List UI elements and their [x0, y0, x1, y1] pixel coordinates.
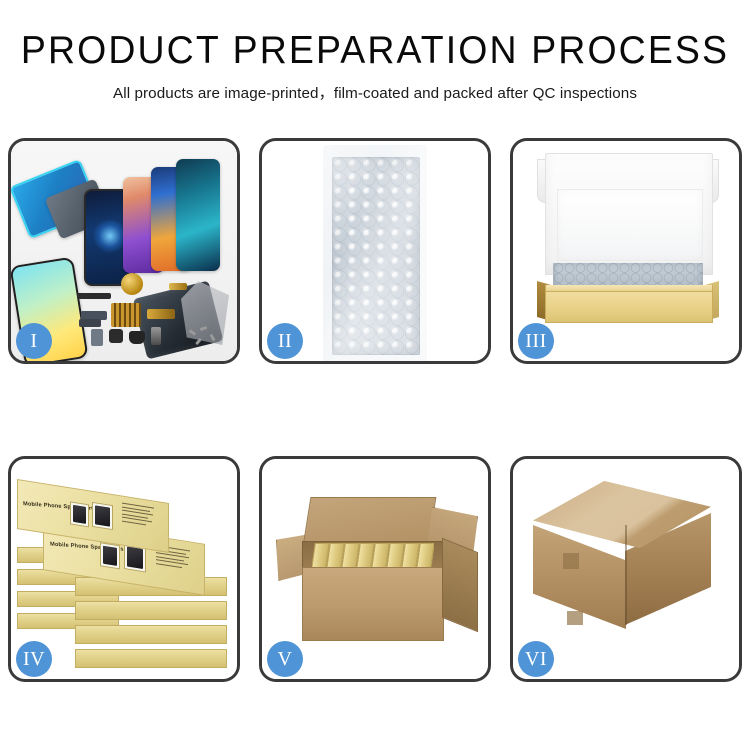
page-title: PRODUCT PREPARATION PROCESS: [15, 30, 735, 72]
step-badge-6: VI: [518, 641, 554, 677]
page-subtitle: All products are image-printed，film-coat…: [0, 81, 750, 103]
step-panel-5: V: [259, 456, 491, 682]
sealed-shipping-carton-icon: [525, 481, 731, 665]
step-panel-1: I: [8, 138, 240, 364]
step-panel-4: Mobile Phone Spare Parts Mobile Phone Sp…: [8, 456, 240, 682]
carton-hand-hole-2: [567, 611, 583, 625]
carton-side-panel: [442, 538, 478, 633]
step-badge-4: IV: [16, 641, 52, 677]
bubble-wrap-pouch-icon: [323, 145, 427, 361]
open-mailer-box-icon: [537, 153, 719, 333]
vibrator-part-icon: [109, 329, 123, 343]
page-header: PRODUCT PREPARATION PROCESS All products…: [0, 0, 750, 103]
carton-hand-hole-1: [563, 553, 579, 569]
open-shipping-carton-icon: [276, 481, 476, 661]
carton-front-panel: [302, 567, 444, 641]
foam-sheet-icon: [557, 189, 703, 261]
connector-bar-part-icon: [77, 293, 111, 299]
stacked-box-side: [75, 649, 227, 668]
step-badge-2: II: [267, 323, 303, 359]
step-panel-2: II: [259, 138, 491, 364]
product-preparation-process-page: PRODUCT PREPARATION PROCESS All products…: [0, 0, 750, 750]
bubble-wrap-bubbles: [332, 157, 420, 355]
stacked-retail-boxes-icon: Mobile Phone Spare Parts Mobile Phone Sp…: [17, 473, 231, 669]
stacked-box-side: [75, 625, 227, 644]
camera-lens-part-icon: [121, 273, 143, 295]
teal-gradient-phone-icon: [176, 159, 220, 271]
step-badge-3: III: [518, 323, 554, 359]
lcd-window-icon: [70, 501, 89, 527]
sim-tray-part-icon: [151, 327, 161, 345]
screws-icon: [189, 327, 223, 347]
box-front-panel: [545, 291, 713, 323]
earpiece-part-icon: [129, 331, 145, 344]
gold-flex-cable-part-icon: [147, 309, 175, 319]
antenna-part-icon: [79, 319, 101, 327]
chip-grid-part-icon: [111, 303, 141, 327]
lcd-window-icon: [92, 502, 113, 530]
button-flex-part-icon: [169, 283, 187, 290]
lcd-window-icon: [100, 542, 120, 569]
box-spec-lines-1: [122, 503, 160, 531]
process-steps-grid: I II: [8, 138, 742, 682]
step-panel-3: III: [510, 138, 742, 364]
carton-corner-seam: [625, 525, 627, 625]
step-badge-1: I: [16, 323, 52, 359]
step-panel-6: VI: [510, 456, 742, 682]
speaker-part-icon: [91, 329, 103, 346]
stacked-box-side: [75, 601, 227, 620]
step-badge-5: V: [267, 641, 303, 677]
